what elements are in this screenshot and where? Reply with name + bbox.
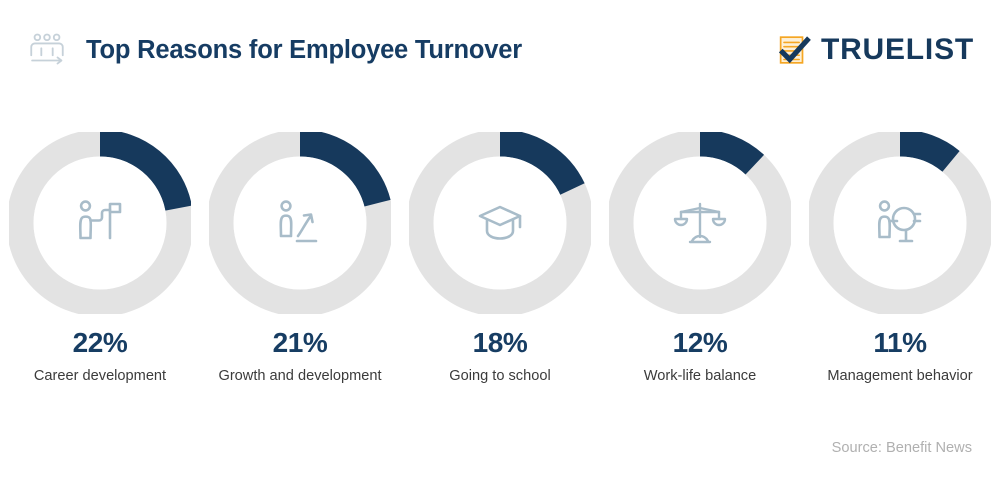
stat-reason: Growth and development [208,366,392,387]
infographic-canvas: Top Reasons for Employee Turnover TRUELI… [0,0,1000,478]
donut-gauge-work-life-balance [600,118,800,328]
stat-percent: 11% [808,326,992,360]
stat-reason: Career development [8,366,192,387]
brand-logo[interactable]: TRUELIST [774,28,974,72]
graduation-cap-icon [472,195,528,251]
stat-career-development: 22% Career development [0,326,200,436]
stat-percent: 12% [608,326,792,360]
stat-reason: Work-life balance [608,366,792,387]
group-people-turnover-icon [26,29,68,71]
checklist-check-icon [774,31,812,69]
person-megaphone-icon [872,195,928,251]
donut-gauge-career-development [0,118,200,328]
source-note: Source: Benefit News [832,440,972,456]
stat-reason: Management behavior [808,366,992,387]
stat-going-to-school: 18% Going to school [400,326,600,436]
donut-gauge-growth-and-development [200,118,400,328]
person-growth-arrow-icon [272,195,328,251]
balance-scales-icon [672,195,728,251]
brand-name: TRUELIST [821,35,974,65]
stat-percent: 22% [8,326,192,360]
stat-management-behavior: 11% Management behavior [800,326,1000,436]
stat-work-life-balance: 12% Work-life balance [600,326,800,436]
stat-percent: 21% [208,326,392,360]
stat-growth-and-development: 21% Growth and development [200,326,400,436]
donut-gauge-row [0,118,1000,328]
stat-reason: Going to school [408,366,592,387]
stat-percent: 18% [408,326,592,360]
person-career-path-flag-icon [72,195,128,251]
donut-gauge-management-behavior [800,118,1000,328]
header: Top Reasons for Employee Turnover TRUELI… [0,0,1000,100]
page-title: Top Reasons for Employee Turnover [86,36,522,65]
label-row: 22% Career development 21% Growth and de… [0,326,1000,436]
donut-gauge-going-to-school [400,118,600,328]
